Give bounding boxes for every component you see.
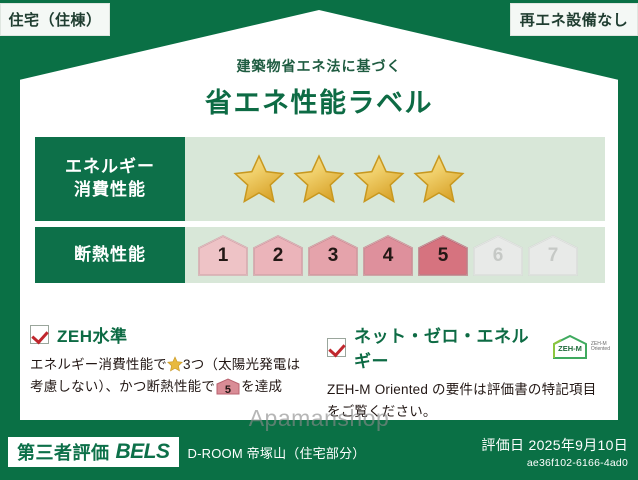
- building-name: D-ROOM 帝塚山（住宅部分）: [188, 443, 366, 462]
- tag-renewable-equipment: 再エネ設備なし: [510, 3, 638, 36]
- note-zeh-text-part1: エネルギー消費性能で: [30, 357, 167, 372]
- grade-badge: 2: [252, 233, 304, 277]
- title-subtitle: 建築物省エネ法に基づく: [0, 56, 638, 76]
- row-energy-label-line2: 消費性能: [74, 179, 146, 202]
- grade-badge-value: 5: [417, 245, 469, 267]
- row-energy-label: エネルギー 消費性能: [35, 137, 185, 221]
- zeh-m-logo-sub2: Oriented: [591, 347, 610, 352]
- zeh-m-logo: ZEH-M ZEH-M Oriented: [551, 334, 610, 360]
- note-net-zero-energy-title: ネット・ゼロ・エネルギー: [354, 322, 539, 372]
- note-zeh-standard-header: ZEH水準: [30, 322, 313, 347]
- title-block: 建築物省エネ法に基づく 省エネ性能ラベル: [0, 56, 638, 120]
- checkbox-checked-icon[interactable]: [30, 325, 49, 344]
- star-icon-filled: [413, 153, 465, 205]
- note-net-zero-energy-body: ZEH-M Oriented の要件は評価書の特記項目をご覧ください。: [327, 379, 610, 423]
- grade-badge: 4: [362, 233, 414, 277]
- grade-badge-value: 3: [307, 245, 359, 267]
- grade-scale: 1234567: [185, 233, 579, 277]
- checkbox-checked-icon[interactable]: [327, 338, 346, 357]
- star-icon-filled: [353, 153, 405, 205]
- star-rating: [185, 153, 465, 205]
- page-title: 省エネ性能ラベル: [0, 81, 638, 120]
- grade-badge-value: 7: [527, 245, 579, 267]
- inline-grade-badge-value: 5: [216, 382, 240, 400]
- notes-section: ZEH水準 エネルギー消費性能で3つ（太陽光発電は考慮しない）、かつ断熱性能で5…: [30, 322, 610, 423]
- note-net-zero-energy-header: ネット・ゼロ・エネルギー ZEH-M ZEH-M Oriented: [327, 322, 610, 372]
- row-insulation-value: 1234567: [185, 227, 605, 283]
- row-energy-consumption: エネルギー 消費性能: [35, 137, 605, 221]
- bels-badge-en-label: BELS: [116, 440, 170, 464]
- bels-badge-jp-label: 第三者評価: [17, 439, 110, 465]
- grade-badge-value: 2: [252, 245, 304, 267]
- note-zeh-standard: ZEH水準 エネルギー消費性能で3つ（太陽光発電は考慮しない）、かつ断熱性能で5…: [30, 322, 313, 423]
- footer: 第三者評価 BELS D-ROOM 帝塚山（住宅部分） 評価日 2025年9月1…: [0, 424, 638, 480]
- grade-badge: 7: [527, 233, 579, 277]
- row-insulation-performance: 断熱性能 1234567: [35, 227, 605, 283]
- grade-badge-value: 6: [472, 245, 524, 267]
- star-icon: [167, 356, 183, 372]
- note-zeh-standard-title: ZEH水準: [57, 322, 128, 347]
- tag-building-type: 住宅（住棟）: [0, 3, 110, 36]
- row-energy-label-line1: エネルギー: [65, 156, 155, 179]
- star-icon-filled: [233, 153, 285, 205]
- footer-meta: 評価日 2025年9月10日 ae36f102-6166-4ad0: [481, 435, 628, 469]
- note-zeh-text-part3: を達成: [241, 379, 282, 394]
- star-icon-filled: [293, 153, 345, 205]
- evaluation-id: ae36f102-6166-4ad0: [481, 457, 628, 469]
- grade-badge: 3: [307, 233, 359, 277]
- energy-performance-label: 住宅（住棟） 再エネ設備なし 建築物省エネ法に基づく 省エネ性能ラベル エネルギ…: [0, 0, 638, 480]
- bels-badge: 第三者評価 BELS: [8, 437, 179, 467]
- row-insulation-label-line1: 断熱性能: [74, 244, 146, 267]
- svg-text:ZEH-M: ZEH-M: [558, 344, 582, 353]
- grade-badge-value: 1: [197, 245, 249, 267]
- grade-badge: 1: [197, 233, 249, 277]
- grade-badge: 6: [472, 233, 524, 277]
- row-energy-value: [185, 137, 605, 221]
- grade-badge-value: 4: [362, 245, 414, 267]
- evaluation-date: 評価日 2025年9月10日: [481, 435, 628, 455]
- inline-grade-badge: 5: [216, 378, 240, 395]
- zeh-m-house-icon: ZEH-M: [551, 334, 589, 360]
- row-insulation-label: 断熱性能: [35, 227, 185, 283]
- performance-rows: エネルギー 消費性能 断熱性能 1234567: [35, 137, 605, 289]
- note-net-zero-energy: ネット・ゼロ・エネルギー ZEH-M ZEH-M Oriented ZEH-M …: [327, 322, 610, 423]
- note-zeh-standard-body: エネルギー消費性能で3つ（太陽光発電は考慮しない）、かつ断熱性能で5を達成: [30, 354, 313, 398]
- grade-badge: 5: [417, 233, 469, 277]
